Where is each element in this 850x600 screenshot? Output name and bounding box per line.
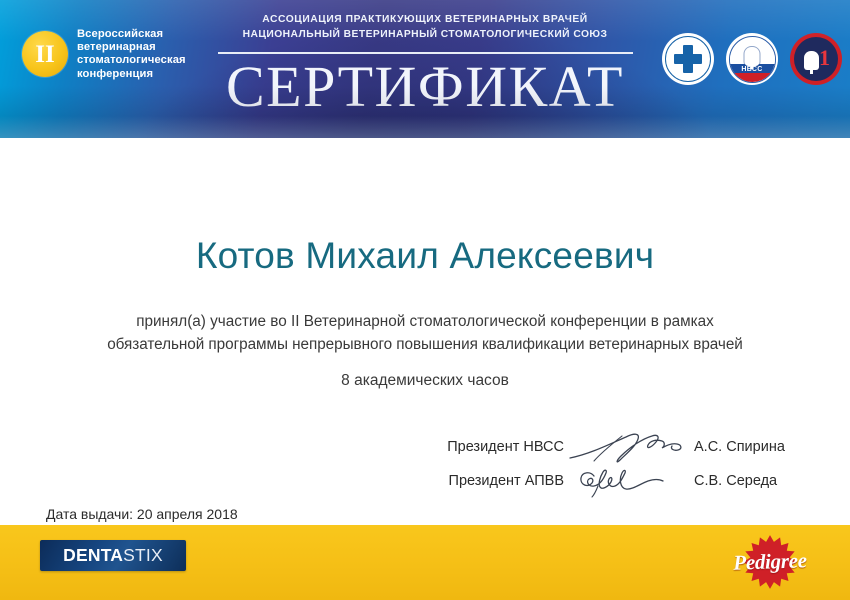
recipient-name: Котов Михаил Алексеевич — [0, 235, 850, 277]
certificate: II Всероссийская ветеринарная стоматолог… — [0, 0, 850, 600]
header-bottom-glow — [0, 116, 850, 138]
association-line-1: АССОЦИАЦИЯ ПРАКТИКУЮЩИХ ВЕТЕРИНАРНЫХ ВРА… — [0, 12, 850, 27]
signature-mark-icon — [564, 430, 694, 464]
signatory-title: Президент НВСС — [447, 439, 564, 455]
nvss-emblem-ring: НВСС — [729, 36, 776, 83]
tooth-icon — [745, 47, 760, 66]
certificate-footer: DENTASTIX Pedigree — [0, 525, 850, 600]
dentist-tooth-emblem-icon: 1 — [790, 33, 842, 85]
nvss-emblem-icon: НВСС — [726, 33, 778, 85]
issue-date: Дата выдачи: 20 апреля 2018 — [46, 506, 238, 522]
numeral-one-icon: 1 — [819, 47, 830, 69]
signatory-name: С.В. Середа — [694, 473, 802, 489]
pedigree-logo: Pedigree — [714, 533, 826, 591]
tooth-icon — [804, 51, 819, 70]
signature-row: Президент НВСС А.С. Спирина — [402, 430, 802, 464]
dentastix-logo-thin: STIX — [123, 545, 163, 565]
emblem-group: НВСС 1 — [662, 33, 842, 85]
participation-statement: принял(а) участие во II Ветеринарной сто… — [40, 310, 810, 356]
nvss-emblem-abbr: НВСС — [730, 66, 775, 73]
signature-row: Президент АПВВ С.В. Середа — [402, 464, 802, 498]
signatory-name: А.С. Спирина — [694, 439, 802, 455]
dentist-emblem-inner: 1 — [794, 37, 838, 81]
certificate-header: II Всероссийская ветеринарная стоматолог… — [0, 0, 850, 138]
dentastix-logo: DENTASTIX — [40, 540, 186, 571]
dentastix-logo-bold: DENTA — [63, 545, 123, 565]
statement-line-2: обязательной программы непрерывного повы… — [40, 333, 810, 356]
statement-line-1: принял(а) участие во II Ветеринарной сто… — [40, 310, 810, 333]
signatory-title: Президент АПВВ — [449, 473, 564, 489]
signature-mark-icon — [564, 464, 694, 498]
veterinary-cross-icon — [673, 44, 703, 74]
apvv-emblem-icon — [662, 33, 714, 85]
certificate-body: Котов Михаил Алексеевич принял(а) участи… — [0, 138, 850, 525]
signature-block: Президент НВСС А.С. Спирина Президент АП… — [402, 430, 802, 498]
pedigree-wordmark: Pedigree — [733, 548, 807, 576]
apvv-emblem-swoosh — [680, 54, 703, 68]
dentastix-logo-text: DENTASTIX — [63, 547, 163, 565]
academic-hours: 8 академических часов — [0, 372, 850, 390]
